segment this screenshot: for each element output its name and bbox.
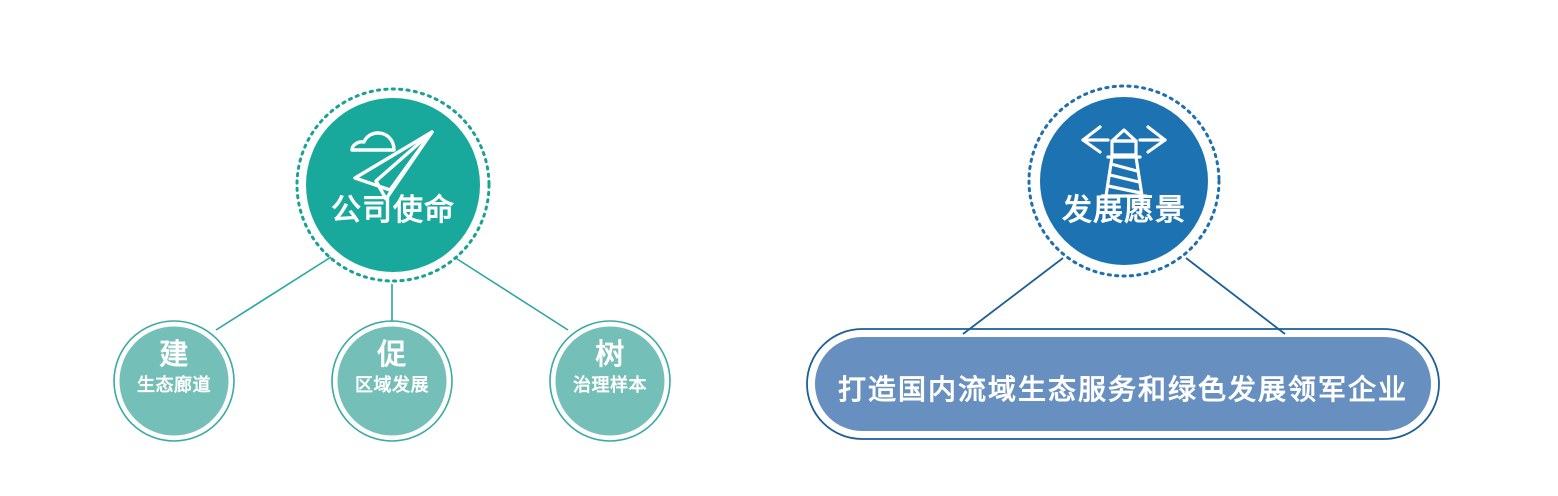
connector-vision-to-banner-right [1186, 258, 1285, 334]
connector-vision-to-banner-left [963, 258, 1063, 334]
branch-2-caption: 区域发展 [332, 376, 452, 394]
infographic-canvas: 公司使命 建 生态廊道 促 区域发展 树 治理样本 发展愿景 打造国内流域生态服… [0, 0, 1558, 496]
connector-hub-to-branch-3 [454, 257, 568, 330]
branch-2-label[interactable]: 促 区域发展 [332, 341, 452, 394]
branch-3-label[interactable]: 树 治理样本 [550, 341, 670, 394]
branch-1-label[interactable]: 建 生态廊道 [114, 341, 234, 394]
vision-banner-text: 打造国内流域生态服务和绿色发展领军企业 [815, 368, 1431, 408]
branch-2-headline: 促 [332, 341, 452, 370]
branch-3-caption: 治理样本 [550, 376, 670, 394]
mission-hub-title: 公司使命 [293, 196, 493, 226]
connector-hub-to-branch-1 [216, 257, 331, 330]
vision-hub-title: 发展愿景 [1024, 196, 1224, 226]
branch-1-headline: 建 [114, 341, 234, 370]
branch-3-headline: 树 [550, 341, 670, 370]
vision-hub-circle[interactable] [1029, 86, 1219, 276]
vision-hub-fill [1040, 97, 1208, 265]
branch-1-caption: 生态廊道 [114, 376, 234, 394]
right-connector-lines [963, 258, 1285, 334]
diagram-shapes [0, 0, 1558, 496]
